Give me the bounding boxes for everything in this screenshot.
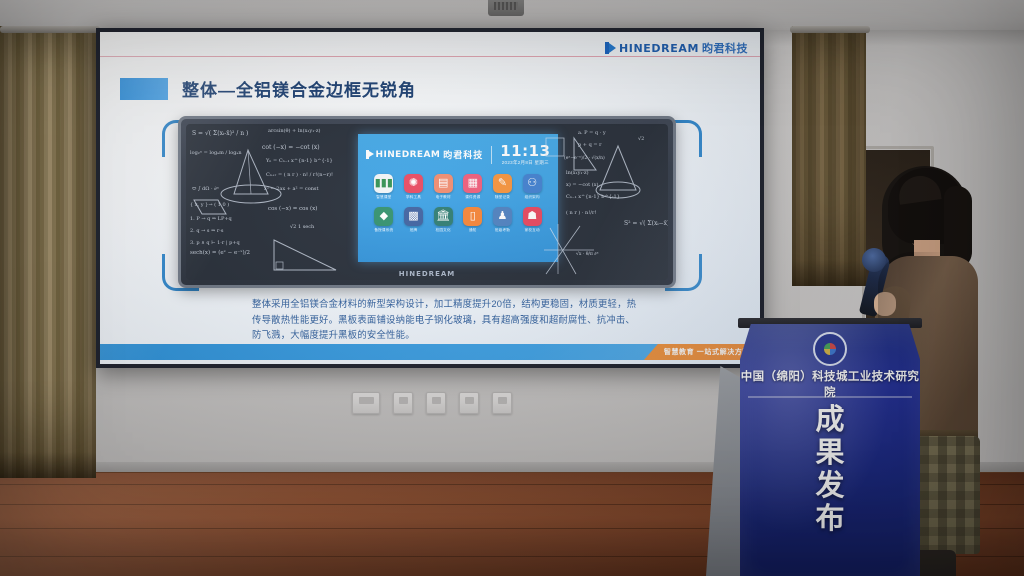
app-label-0: 智慧课堂 <box>376 195 391 200</box>
brand-en-text: HINEDREAM <box>619 42 699 55</box>
footer-tag-text: 智慧教育 一站式解决方案 <box>664 347 750 357</box>
slide-title-row: 整体—全铝镁合金边框无锐角 <box>120 76 416 101</box>
app-label-4: 随堂记录 <box>495 195 510 200</box>
app-label-11: 家校互动 <box>525 228 540 233</box>
slide: HINEDREAM 昀君科技 整体—全铝镁合金边框无锐角 S = √( Σ(xᵢ… <box>100 32 760 364</box>
bank-icon: 🏛 <box>434 207 453 226</box>
app-label-9: 通知 <box>469 228 477 233</box>
lcd-header: HINEDREAM 昀君科技 11:13 2023年2月8日 星期三 <box>358 144 558 166</box>
lcd-brand: HINEDREAM 昀君科技 <box>366 148 484 161</box>
page-title: 整体—全铝镁合金边框无锐角 <box>182 76 416 101</box>
app-grid: ▮▮▮智慧课堂 ✺学科工具 ▤电子教材 ▦课件资源 ✎随堂记录 ⚇组织架构 ◆备… <box>372 174 544 233</box>
library-icon: ▤ <box>434 174 453 193</box>
app-label-10: 班级考勤 <box>495 228 510 233</box>
app-tile-3[interactable]: ▦课件资源 <box>461 174 485 200</box>
gear-emblem-icon <box>813 332 847 366</box>
app-tile-11[interactable]: ☗家校互动 <box>520 207 544 233</box>
lcd-divider <box>491 146 492 164</box>
app-tile-8[interactable]: 🏛校园文化 <box>431 207 455 233</box>
curtain-rod-left <box>0 26 100 33</box>
app-tile-6[interactable]: ◆备授课系统 <box>372 207 396 233</box>
brand-cn-text: 昀君科技 <box>702 40 748 56</box>
people-icon: ♟ <box>493 207 512 226</box>
app-label-3: 课件资源 <box>465 195 480 200</box>
podium-headline-char-0: 成 <box>815 406 844 435</box>
podium-headline-char-2: 发 <box>815 472 844 501</box>
podium-headline-char-3: 布 <box>815 505 844 534</box>
clock-time: 11:13 <box>500 144 550 159</box>
smart-blackboard-device: S = √( Σ(xᵢ-x̄)² / n ) arcsin(θ) + ln(x₁… <box>178 116 676 288</box>
title-accent-chip <box>120 78 168 100</box>
clock-date: 2023年2月8日 星期三 <box>502 161 549 166</box>
wall-switch-panel[interactable] <box>352 392 512 414</box>
light-switch-2[interactable] <box>393 392 413 414</box>
atom-icon: ✺ <box>404 174 423 193</box>
light-switch-1[interactable] <box>352 392 380 414</box>
app-tile-1[interactable]: ✺学科工具 <box>402 174 426 200</box>
podium-banner: 中国（绵阳）科技城工业技术研究院 成 果 发 布 <box>740 324 920 576</box>
lcd-brand-cn: 昀君科技 <box>443 148 483 161</box>
podium-headline: 成 果 发 布 <box>740 406 920 534</box>
lcd-screen[interactable]: HINEDREAM 昀君科技 11:13 2023年2月8日 星期三 ▮▮▮智慧… <box>358 134 558 262</box>
lcd-brand-en: HINEDREAM <box>376 150 441 160</box>
curtain-left <box>0 26 96 478</box>
podium-separator <box>748 396 912 398</box>
podium-headline-char-1: 果 <box>815 439 844 468</box>
light-switch-5[interactable] <box>492 392 512 414</box>
slide-divider <box>100 56 760 57</box>
app-tile-9[interactable]: ▯通知 <box>461 207 485 233</box>
app-label-6: 备授课系统 <box>374 228 393 233</box>
lcd-clock: 11:13 2023年2月8日 星期三 <box>500 144 550 166</box>
light-switch-4[interactable] <box>459 392 479 414</box>
screenshot-root: HINEDREAM 昀君科技 整体—全铝镁合金边框无锐角 S = √( Σ(xᵢ… <box>0 0 1024 576</box>
app-tile-0[interactable]: ▮▮▮智慧课堂 <box>372 174 396 200</box>
app-tile-2[interactable]: ▤电子教材 <box>431 174 455 200</box>
layers-icon: ◆ <box>374 207 393 226</box>
app-tile-4[interactable]: ✎随堂记录 <box>491 174 515 200</box>
blackboard-surface: S = √( Σ(xᵢ-x̄)² / n ) arcsin(θ) + ln(x₁… <box>186 124 668 280</box>
slide-brand-logo: HINEDREAM 昀君科技 <box>605 40 748 56</box>
classroom-icon: ▦ <box>463 174 482 193</box>
slide-footer-bar: 智慧教育 一站式解决方案 <box>100 344 760 360</box>
app-tile-5[interactable]: ⚇组织架构 <box>520 174 544 200</box>
lcd-hinedream-mark-icon <box>366 150 373 159</box>
app-label-7: 班牌 <box>410 228 418 233</box>
presenter-hand <box>874 292 896 316</box>
grid-icon: ▩ <box>404 207 423 226</box>
chalk-diagram-right <box>544 128 664 278</box>
podium: 中国（绵阳）科技城工业技术研究院 成 果 发 布 <box>740 318 920 576</box>
app-label-5: 组织架构 <box>525 195 540 200</box>
notice-icon: ▯ <box>463 207 482 226</box>
family-icon: ☗ <box>523 207 542 226</box>
books-icon: ▮▮▮ <box>374 174 393 193</box>
network-icon: ⚇ <box>523 174 542 193</box>
app-tile-7[interactable]: ▩班牌 <box>402 207 426 233</box>
app-label-8: 校园文化 <box>436 228 451 233</box>
app-label-2: 电子教材 <box>436 195 451 200</box>
ceiling-vent-icon <box>488 0 524 16</box>
app-label-1: 学科工具 <box>406 195 421 200</box>
curtain-rod-right <box>790 26 870 33</box>
chalk-diagram-left <box>188 128 356 280</box>
slide-paragraph: 整体采用全铝镁合金材料的新型架构设计，加工精度提升20倍，结构更稳固，材质更轻，… <box>252 296 644 343</box>
board-brand-text: HINEDREAM <box>186 270 668 278</box>
app-tile-10[interactable]: ♟班级考勤 <box>491 207 515 233</box>
projection-screen: HINEDREAM 昀君科技 整体—全铝镁合金边框无锐角 S = √( Σ(xᵢ… <box>96 28 764 368</box>
pen-icon: ✎ <box>493 174 512 193</box>
light-switch-3[interactable] <box>426 392 446 414</box>
hinedream-mark-icon <box>605 42 616 54</box>
